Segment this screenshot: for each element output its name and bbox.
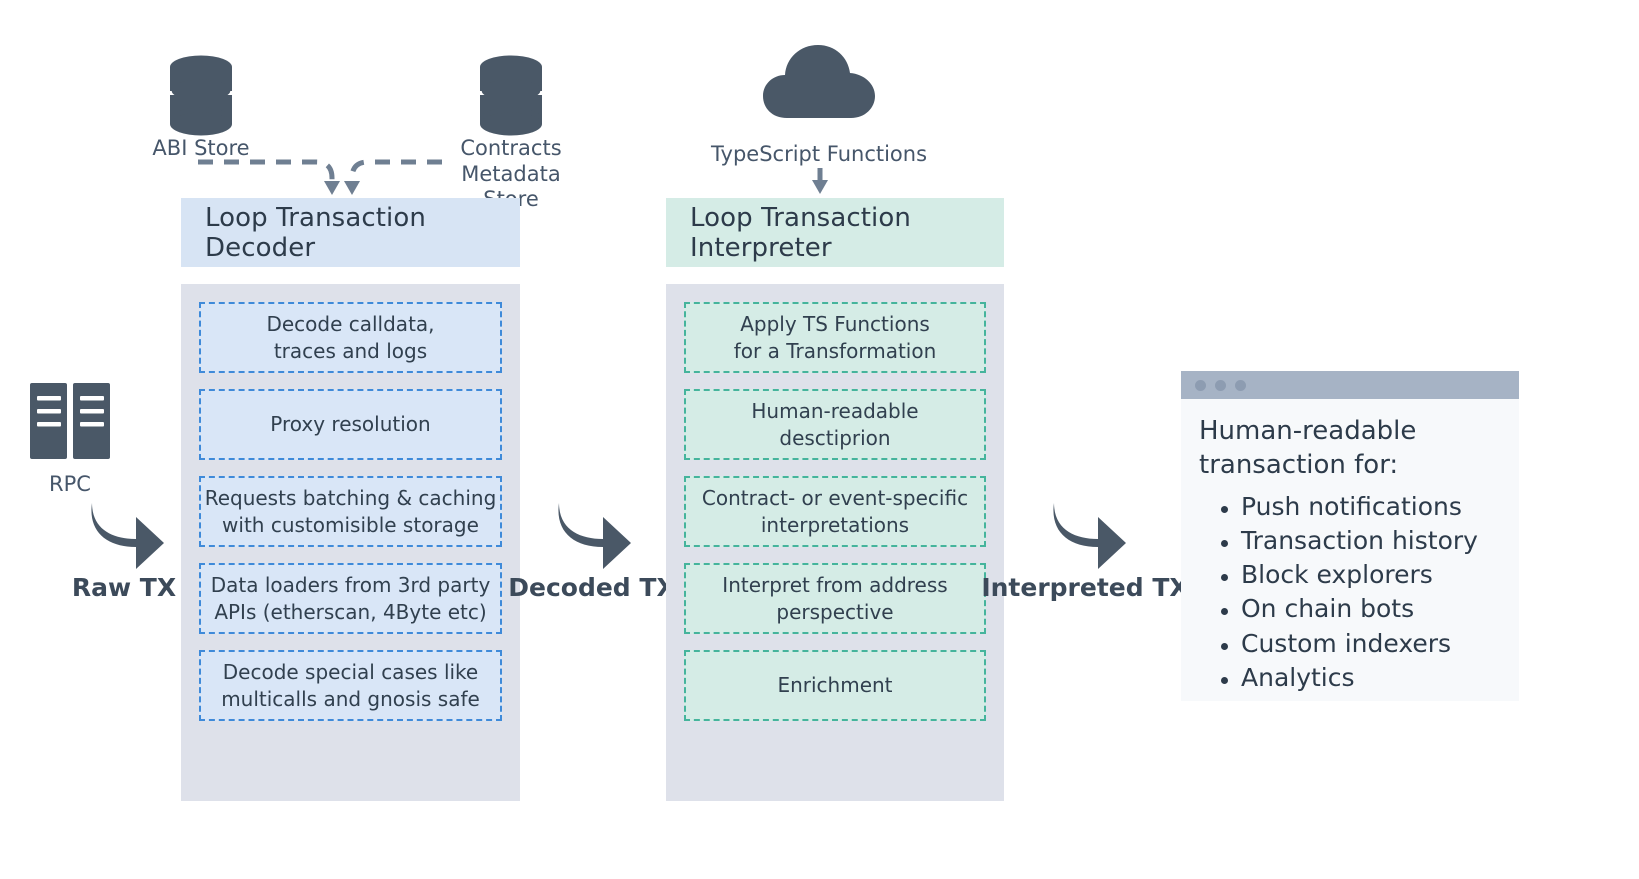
interpreter-step-4[interactable]: Interpret from addressperspective <box>684 563 986 634</box>
rpc-label: RPC <box>0 472 140 498</box>
interpreter-step-2-label: Human-readabledesctiprion <box>751 398 918 451</box>
interpreter-step-1-label: Apply TS Functionsfor a Transformation <box>734 311 937 364</box>
decoder-step-2-label: Proxy resolution <box>270 411 430 437</box>
interpreted-tx-label: Interpreted TX <box>965 573 1205 602</box>
interpreter-header: Loop Transaction Interpreter <box>666 198 1004 267</box>
list-item: Custom indexers <box>1199 627 1497 661</box>
list-item: On chain bots <box>1199 592 1497 626</box>
decoder-step-4-label: Data loaders from 3rd partyAPIs (ethersc… <box>211 572 491 625</box>
database-icon <box>478 55 544 137</box>
curved-arrow-icon <box>84 495 166 573</box>
interpreter-step-1[interactable]: Apply TS Functionsfor a Transformation <box>684 302 986 373</box>
decoder-step-5[interactable]: Decode special cases likemulticalls and … <box>199 650 502 721</box>
curved-arrow-icon <box>1046 495 1128 573</box>
contracts-metadata-store-icon-wrap <box>478 55 544 141</box>
interpreter-step-2[interactable]: Human-readabledesctiprion <box>684 389 986 460</box>
interpreter-steps-container: Apply TS Functionsfor a Transformation H… <box>666 284 1004 801</box>
output-use-case-list: Push notifications Transaction history B… <box>1199 490 1497 696</box>
decoder-step-2[interactable]: Proxy resolution <box>199 389 502 460</box>
list-item: Analytics <box>1199 661 1497 695</box>
decoder-step-5-label: Decode special cases likemulticalls and … <box>221 659 480 712</box>
contracts-metadata-to-decoder-connector <box>330 148 450 198</box>
list-item: Transaction history <box>1199 524 1497 558</box>
decoded-tx-label: Decoded TX <box>492 573 692 602</box>
interpreter-step-5[interactable]: Enrichment <box>684 650 986 721</box>
interpreter-step-3-label: Contract- or event-specificinterpretatio… <box>702 485 968 538</box>
curved-arrow-icon <box>551 495 633 573</box>
typescript-functions-icon-wrap <box>761 40 877 126</box>
raw-tx-arrow <box>84 495 166 577</box>
rpc-icon-wrap <box>28 381 112 465</box>
decoder-step-1-label: Decode calldata,traces and logs <box>266 311 434 364</box>
browser-content: Human-readable transaction for: Push not… <box>1181 399 1519 701</box>
cloud-icon <box>761 40 877 122</box>
interpreter-step-5-label: Enrichment <box>777 672 892 698</box>
interpreter-step-4-label: Interpret from addressperspective <box>722 572 947 625</box>
contracts-metadata-store-label-line1: Contracts Metadata <box>460 136 561 186</box>
browser-title-bar[interactable] <box>1181 371 1519 399</box>
interpreter-title: Loop Transaction Interpreter <box>690 203 1004 263</box>
interpreter-step-3[interactable]: Contract- or event-specificinterpretatio… <box>684 476 986 547</box>
database-icon <box>168 55 234 137</box>
decoder-header: Loop Transaction Decoder <box>181 198 520 267</box>
decoder-steps-container: Decode calldata,traces and logs Proxy re… <box>181 284 520 801</box>
output-browser-window: Human-readable transaction for: Push not… <box>1181 371 1519 701</box>
decoded-tx-arrow <box>551 495 633 577</box>
browser-maximize-dot-icon[interactable] <box>1235 380 1246 391</box>
decoder-step-1[interactable]: Decode calldata,traces and logs <box>199 302 502 373</box>
decoder-step-4[interactable]: Data loaders from 3rd partyAPIs (ethersc… <box>199 563 502 634</box>
abi-store-icon-wrap <box>168 55 234 141</box>
decoder-step-3[interactable]: Requests batching & cachingwith customis… <box>199 476 502 547</box>
decoder-title: Loop Transaction Decoder <box>205 203 520 263</box>
interpreted-tx-arrow <box>1046 495 1128 577</box>
typescript-functions-to-interpreter-connector <box>811 168 829 198</box>
diagram-canvas: ABI Store Contracts Metadata Store Typ <box>0 0 1639 879</box>
browser-minimize-dot-icon[interactable] <box>1215 380 1226 391</box>
decoder-step-3-label: Requests batching & cachingwith customis… <box>205 485 497 538</box>
output-title: Human-readable transaction for: <box>1199 415 1497 483</box>
list-item: Push notifications <box>1199 490 1497 524</box>
typescript-functions-label: TypeScript Functions <box>698 142 940 168</box>
list-item: Block explorers <box>1199 558 1497 592</box>
browser-close-dot-icon[interactable] <box>1195 380 1206 391</box>
server-rack-icon <box>28 381 112 461</box>
